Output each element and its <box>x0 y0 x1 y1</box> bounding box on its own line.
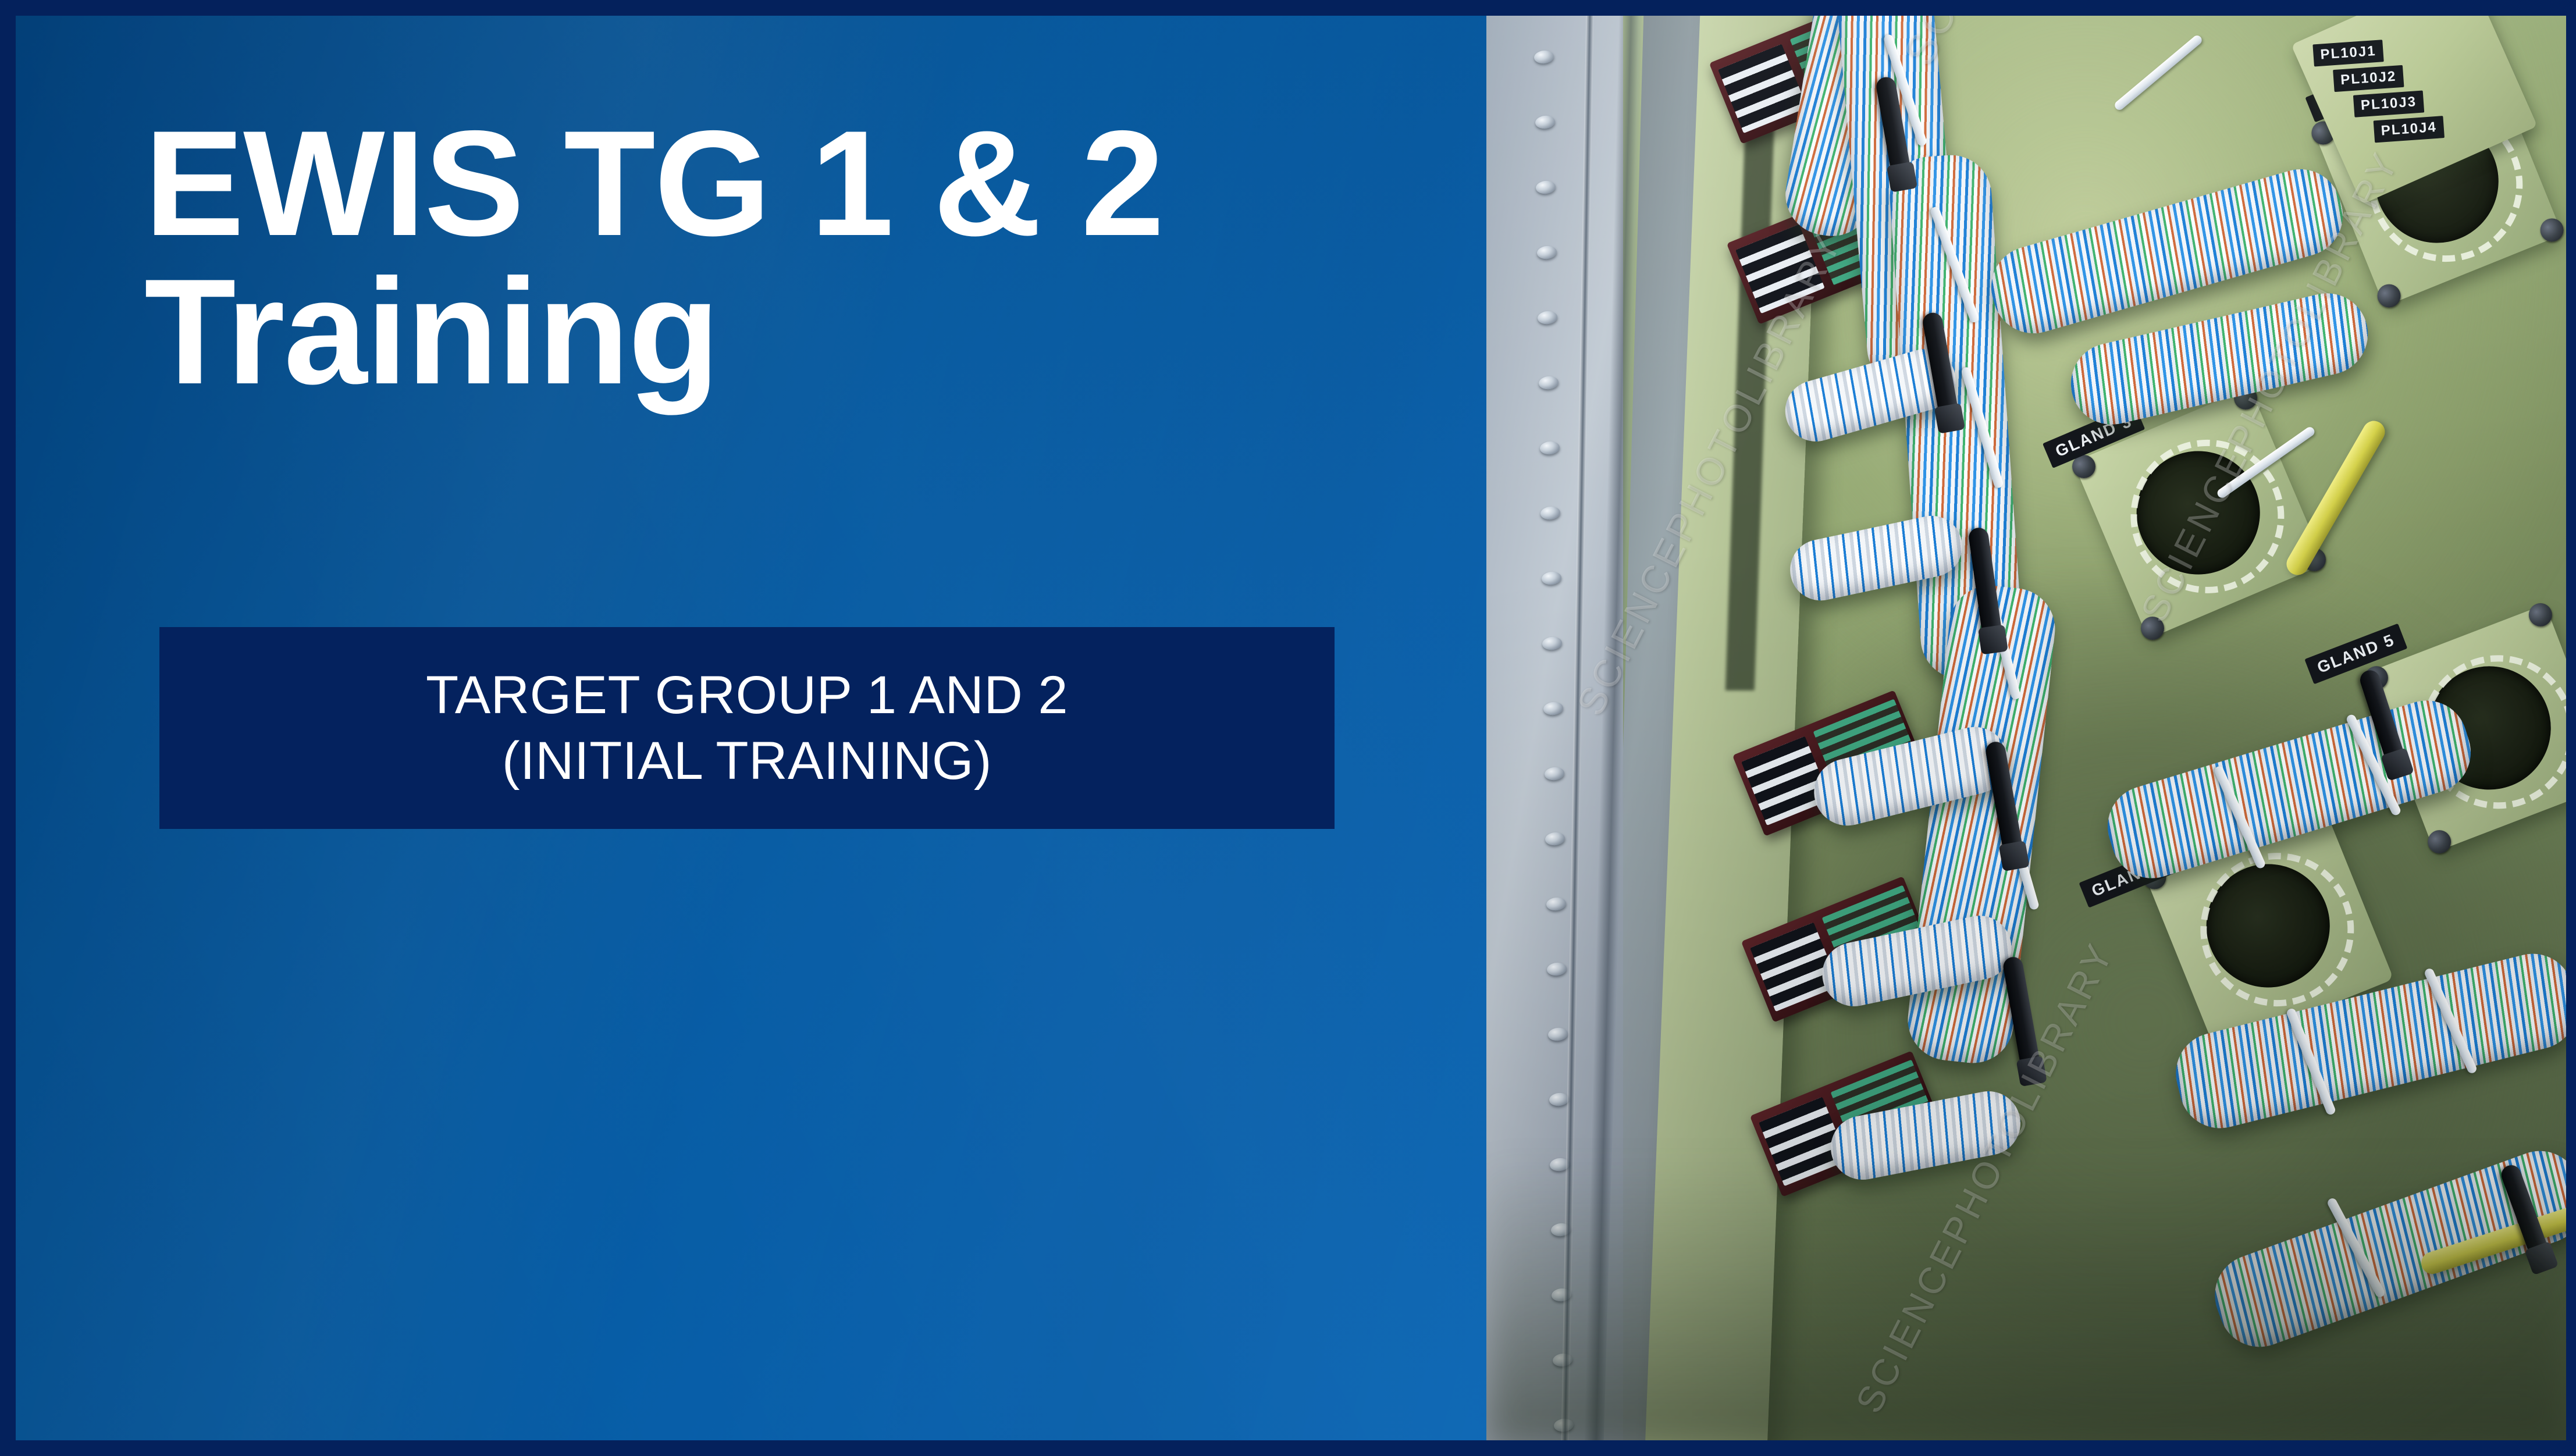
subtitle-line-2: (INITIAL TRAINING) <box>502 728 992 793</box>
connector-label-pl10j2: PL10J2 <box>2333 65 2404 92</box>
cable-tie-head <box>1887 162 1917 193</box>
connector-label-pl10j3: PL10J3 <box>2353 90 2424 117</box>
photo-depth-blur <box>1486 1156 2566 1440</box>
slide-canvas: EWIS TG 1 & 2 Training TARGET GROUP 1 AN… <box>16 16 2566 1440</box>
connector-label-pl10j1: PL10J1 <box>2312 40 2383 66</box>
ewis-bulkhead-photo: null GLAND 2 GLAND 3 <box>1486 16 2566 1440</box>
cable-tie-head <box>1999 841 2030 871</box>
slide-root: EWIS TG 1 & 2 Training TARGET GROUP 1 AN… <box>0 0 2576 1456</box>
page-title: EWIS TG 1 & 2 Training <box>144 109 1459 406</box>
cable-tie-head <box>2016 1056 2047 1087</box>
cable-tie-head <box>1978 625 2008 655</box>
cable-tie-head <box>1934 403 1965 433</box>
connector-label-pl10j4: PL10J4 <box>2374 116 2445 143</box>
subtitle-box: TARGET GROUP 1 AND 2 (INITIAL TRAINING) <box>159 627 1335 829</box>
subtitle-line-1: TARGET GROUP 1 AND 2 <box>426 663 1068 728</box>
title-panel: EWIS TG 1 & 2 Training TARGET GROUP 1 AN… <box>16 16 1486 1440</box>
